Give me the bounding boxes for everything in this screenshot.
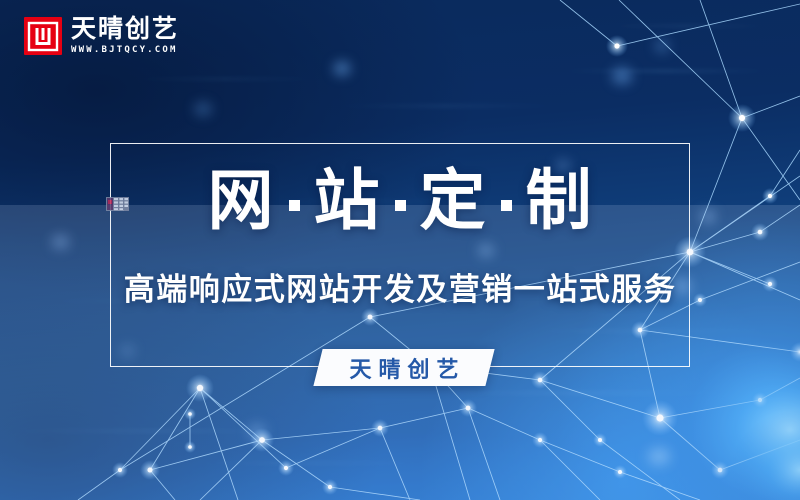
page-title: 网 站 定 制 bbox=[0, 168, 800, 234]
title-separator-dot bbox=[501, 200, 512, 211]
title-separator-dot bbox=[289, 200, 300, 211]
logo-mark-icon bbox=[24, 17, 62, 55]
logo-company-name: 天晴创艺 bbox=[71, 16, 179, 42]
brand-badge-label: 天晴创艺 bbox=[318, 349, 490, 386]
page-subtitle: 高端响应式网站开发及营销一站式服务 bbox=[0, 264, 800, 309]
title-char-1: 网 bbox=[208, 168, 275, 234]
title-char-3: 定 bbox=[420, 168, 487, 234]
brand-logo[interactable]: 天晴创艺 WWW.BJTQCY.COM bbox=[24, 16, 179, 55]
title-separator-dot bbox=[395, 200, 406, 211]
title-char-4: 制 bbox=[526, 168, 593, 234]
title-char-2: 站 bbox=[314, 168, 381, 234]
promo-banner: 天晴创艺 WWW.BJTQCY.COM 网 站 定 制 高端响应式网站开发及营销… bbox=[0, 0, 800, 500]
logo-website-url: WWW.BJTQCY.COM bbox=[71, 45, 179, 55]
